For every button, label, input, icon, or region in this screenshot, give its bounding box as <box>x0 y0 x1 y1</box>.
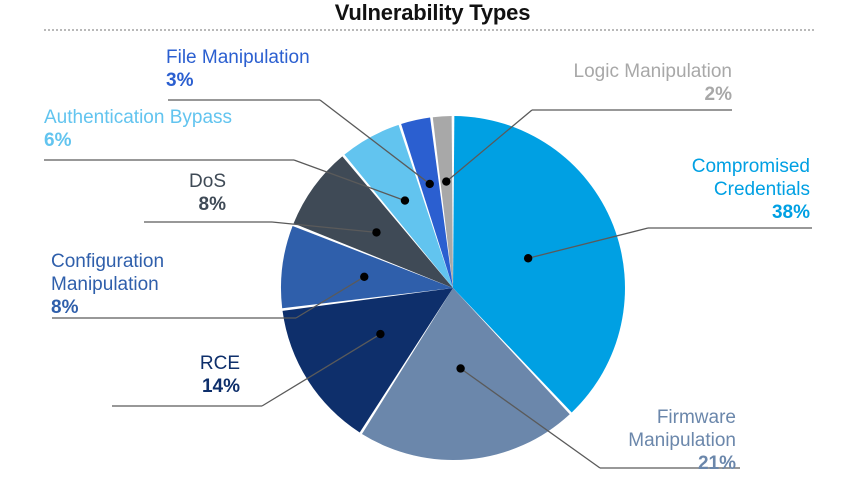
leader-dot <box>376 330 384 338</box>
callout-label-line1: File Manipulation <box>166 47 310 68</box>
callout-label-line2: Credentials <box>714 179 810 200</box>
leader-line <box>144 222 381 237</box>
callout-authentication-bypass: Authentication Bypass 6% <box>44 106 304 152</box>
callout-configuration-manipulation: Configuration Manipulation 8% <box>51 250 241 319</box>
callout-label-line1: Compromised <box>692 156 810 177</box>
leader-dot <box>401 196 409 204</box>
pie-chart-figure: Vulnerability Types Compromised Credenti… <box>0 0 865 485</box>
callout-dos: DoS 8% <box>126 170 226 216</box>
leader-dot <box>456 364 464 372</box>
callout-compromised-credentials: Compromised Credentials 38% <box>598 155 810 224</box>
callout-firmware-manipulation: Firmware Manipulation 21% <box>578 406 736 475</box>
callout-label-line2: Manipulation <box>628 430 736 451</box>
callout-value: 38% <box>598 201 810 224</box>
callout-value: 8% <box>126 193 226 216</box>
callout-label-line1: Logic Manipulation <box>574 61 732 82</box>
callout-value: 6% <box>44 129 304 152</box>
callout-value: 21% <box>578 452 736 475</box>
callout-value: 2% <box>520 83 732 106</box>
callout-file-manipulation: File Manipulation 3% <box>166 46 366 92</box>
leader-line <box>524 228 812 262</box>
leader-dot <box>426 180 434 188</box>
leader-dot <box>442 177 450 185</box>
callout-value: 3% <box>166 69 366 92</box>
leader-line <box>44 160 409 205</box>
callout-label-line2: Manipulation <box>51 274 159 295</box>
leader-dot <box>372 228 380 236</box>
leader-dot <box>524 254 532 262</box>
callout-label-line1: DoS <box>189 171 226 192</box>
callout-label-line1: Firmware <box>657 407 736 428</box>
callout-label-line1: Authentication Bypass <box>44 107 232 128</box>
callout-label-line1: Configuration <box>51 251 164 272</box>
callout-logic-manipulation: Logic Manipulation 2% <box>520 60 732 106</box>
callout-label-line1: RCE <box>200 353 240 374</box>
callout-value: 8% <box>51 296 241 319</box>
callout-rce: RCE 14% <box>110 352 240 398</box>
callout-value: 14% <box>110 375 240 398</box>
leader-dot <box>360 273 368 281</box>
